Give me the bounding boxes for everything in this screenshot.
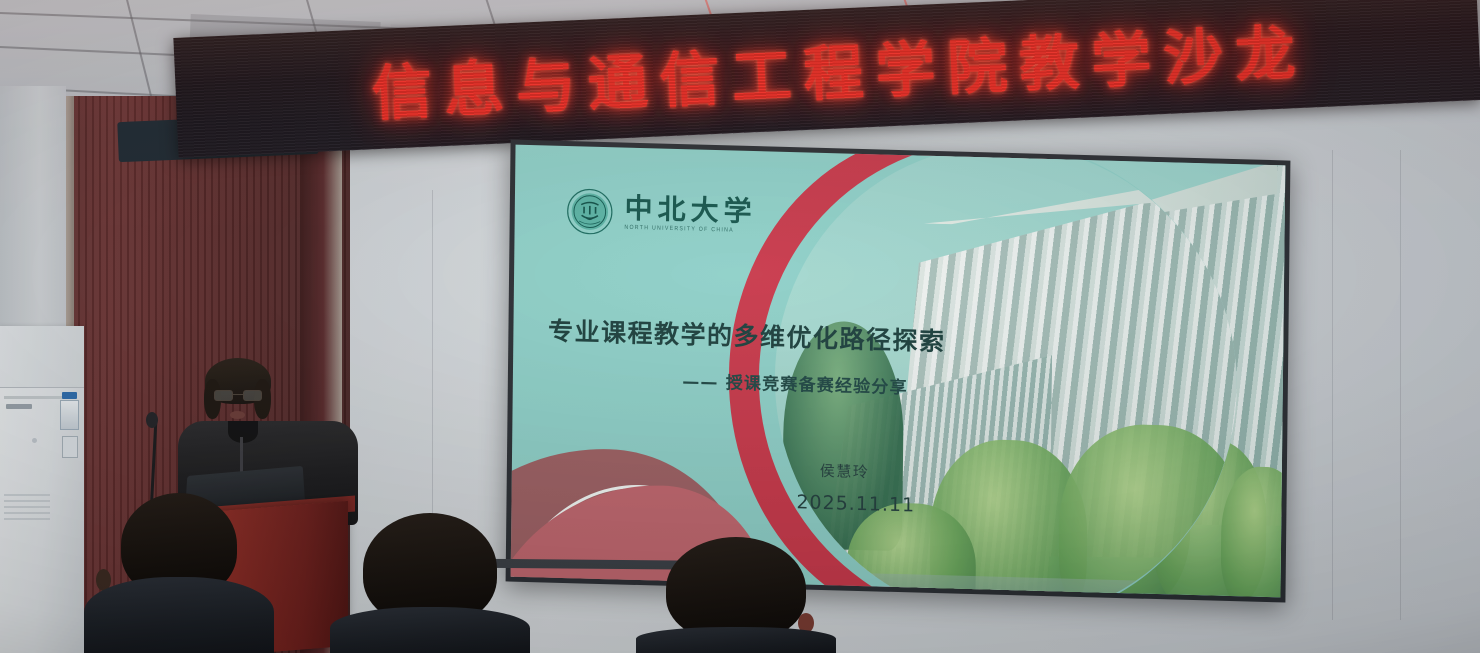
ac-sticker-secondary (62, 436, 78, 458)
audience-member (330, 523, 530, 653)
ac-top-panel (0, 326, 84, 388)
university-emblem-icon (565, 187, 614, 236)
university-name-cn: 中北大学 (624, 195, 756, 227)
slide-subtitle: —— 授课竞赛备赛经验分享 (682, 367, 908, 398)
university-logo: 中北大学 NORTH UNIVERSITY OF CHINA (565, 187, 757, 240)
ac-vent (4, 396, 64, 399)
ac-brand-logo (6, 404, 32, 409)
air-conditioner (0, 326, 84, 653)
projection-screen: 中北大学 NORTH UNIVERSITY OF CHINA 专业课程教学的多维… (506, 139, 1291, 602)
lecture-hall-photo: 信息与通信工程学院教学沙龙 (0, 0, 1480, 653)
audience-member (84, 493, 274, 653)
ac-energy-badge (62, 392, 77, 399)
slide-presenter-name: 侯慧玲 (820, 460, 870, 482)
ac-indicator-light (32, 438, 37, 443)
audience-member (636, 543, 836, 653)
microphone-head (146, 412, 158, 428)
ac-grill (4, 494, 50, 520)
presenter-glasses-icon (214, 390, 262, 401)
presenter-mouth (230, 411, 245, 419)
ac-sticker-primary (60, 400, 79, 430)
slide-date: 2025.11.11 (796, 491, 915, 516)
led-banner-text: 信息与通信工程学院教学沙龙 (370, 4, 1309, 133)
slide: 中北大学 NORTH UNIVERSITY OF CHINA 专业课程教学的多维… (511, 145, 1286, 598)
